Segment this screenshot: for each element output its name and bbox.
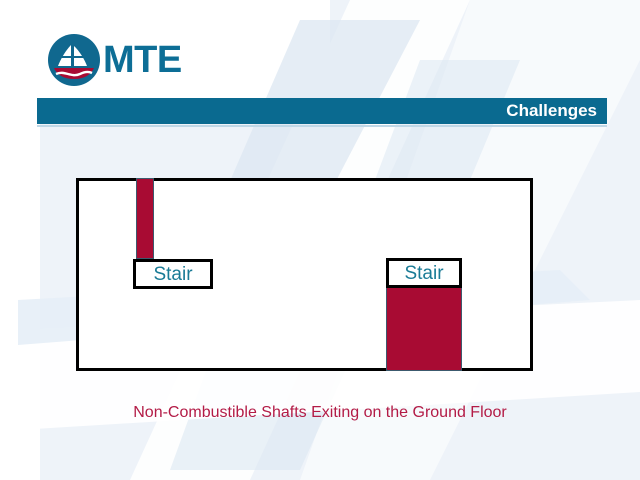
stair-label-box-right: Stair bbox=[386, 258, 462, 288]
stair-label-text-left: Stair bbox=[153, 264, 192, 285]
logo-wordmark: MTE bbox=[103, 39, 182, 81]
slide-caption: Non-Combustible Shafts Exiting on the Gr… bbox=[0, 403, 640, 423]
slide-title: Challenges bbox=[506, 101, 597, 121]
slide-canvas: MTE Challenges Stair Stair Non-Combustib… bbox=[0, 0, 640, 480]
stair-label-text-right: Stair bbox=[404, 263, 443, 284]
mte-logo: MTE bbox=[47, 33, 207, 89]
ground-floor-diagram: Stair Stair bbox=[76, 178, 533, 371]
slide-title-bar: Challenges bbox=[37, 98, 607, 124]
title-underline bbox=[37, 125, 607, 127]
sailboat-circle-logo-icon bbox=[47, 33, 101, 87]
wide-shaft-right bbox=[386, 287, 462, 371]
stair-label-box-left: Stair bbox=[133, 259, 213, 289]
narrow-shaft-left bbox=[136, 178, 154, 259]
